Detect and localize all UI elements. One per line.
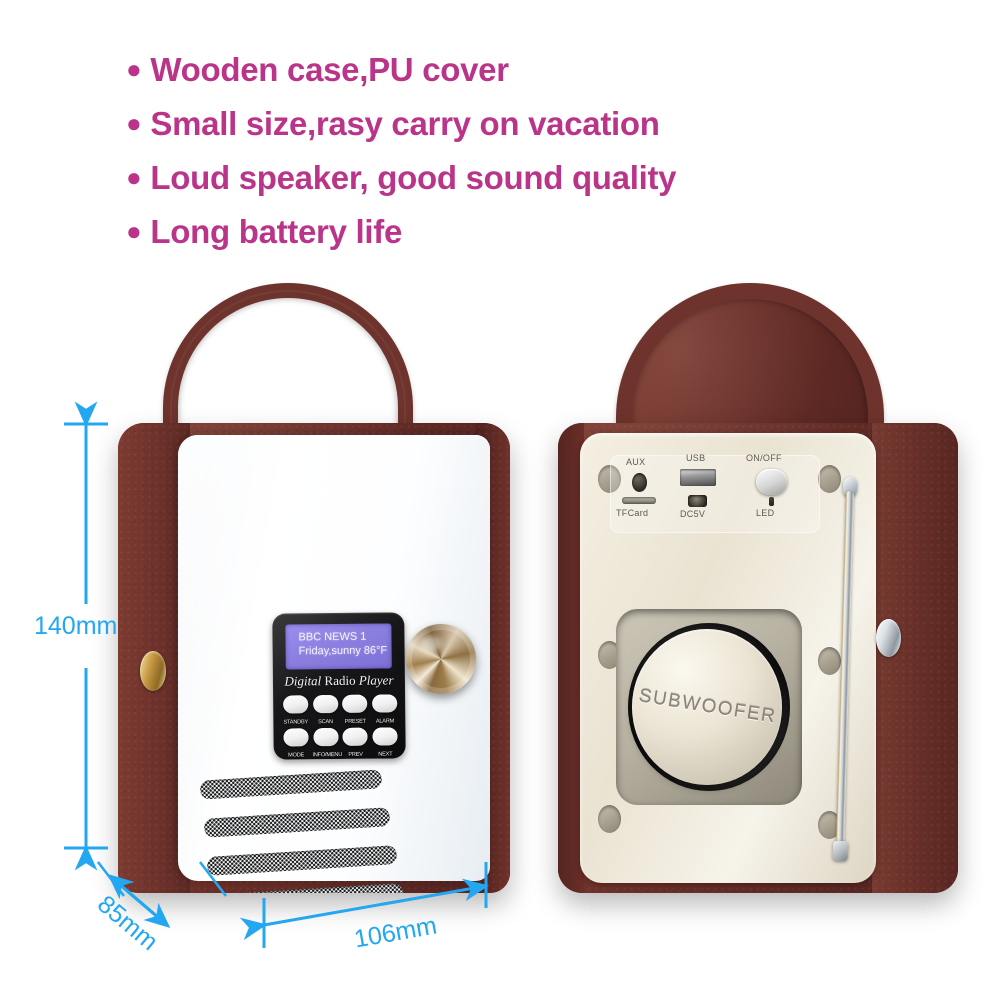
product-infographic: ● Wooden case,PU cover ● Small size,rasy… — [0, 0, 1000, 1000]
depth-tick-b — [200, 862, 226, 896]
dimension-annotations — [0, 0, 1000, 1000]
dimension-height-label: 140mm — [34, 612, 117, 641]
width-dim-line — [264, 886, 486, 925]
